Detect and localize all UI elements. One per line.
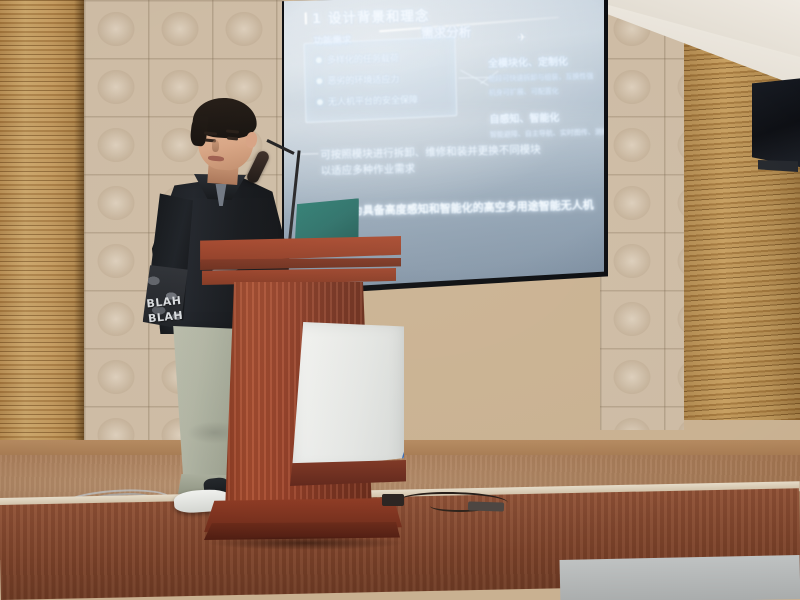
wall-mounted-display: [752, 78, 800, 168]
podium-shadow: [206, 536, 406, 550]
lower-floor: [560, 555, 800, 600]
podium-top-edge: [196, 258, 401, 270]
presentation-photo-scene: 1 设计背景和理念 需求分析 功能需求 多样化的任务载荷 恶劣的环境适应力 无人…: [0, 0, 800, 600]
wood-slat-panel-left: [0, 0, 84, 470]
cable-connector-plate: [468, 501, 504, 511]
presenter-ear: [245, 131, 258, 148]
podium-plaque-base: [290, 460, 406, 486]
podium-front-plaque: [292, 322, 404, 470]
presenter-nose: [212, 140, 219, 152]
podium-top-surface: [196, 236, 401, 262]
cable-connector-block: [382, 494, 404, 506]
quilted-acoustic-panel-right: [600, 0, 684, 430]
podium: [196, 236, 401, 534]
